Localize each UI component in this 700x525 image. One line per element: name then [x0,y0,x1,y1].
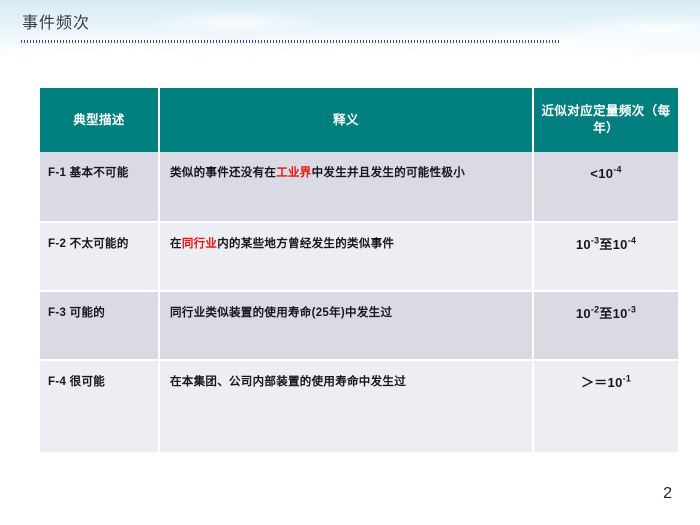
frequency-base: ＞＝10 [581,375,623,390]
frequency-exponent: -4 [613,165,621,175]
frequency-exponent: -1 [623,374,631,384]
explanation-text-post: 中发生并且发生的可能性极小 [312,167,465,179]
cell-description-f4: F-4 很可能 [40,360,159,452]
cell-frequency-f4: ＞＝10-1 [533,360,678,452]
title-underline-divider [21,40,561,43]
table-header-typical-description: 典型描述 [40,88,159,152]
frequency-base: <10 [590,166,613,181]
table-row: F-2 不太可能的 在同行业内的某些地方曾经发生的类似事件 10-3至10-4 [40,222,678,291]
cell-explanation-f3: 同行业类似装置的使用寿命(25年)中发生过 [159,291,533,360]
frequency-exponent-2: -4 [628,236,636,246]
table-header-definition: 释义 [159,88,533,152]
cell-description-f1: F-1 基本不可能 [40,152,159,222]
explanation-text-pre: 同行业类似装置的使用寿命(25年)中发生过 [170,307,392,319]
cell-description-f3: F-3 可能的 [40,291,159,360]
explanation-text-pre: 类似的事件还没有在 [170,167,276,179]
frequency-base: 10 [576,306,591,321]
cell-explanation-f2: 在同行业内的某些地方曾经发生的类似事件 [159,222,533,291]
explanation-text-pre: 在本集团、公司内部装置的使用寿命中发生过 [170,376,406,388]
cell-frequency-f1: <10-4 [533,152,678,222]
explanation-highlight: 工业界 [276,167,311,179]
sky-fade-overlay [0,55,700,75]
table-header-row: 典型描述 释义 近似对应定量频次（每年） [40,88,678,152]
cell-frequency-f2: 10-3至10-4 [533,222,678,291]
frequency-mid: 至10 [599,237,627,252]
cell-description-f2: F-2 不太可能的 [40,222,159,291]
sky-background-banner [0,0,700,60]
event-frequency-table: 典型描述 释义 近似对应定量频次（每年） F-1 基本不可能 类似的事件还没有在… [40,88,678,452]
table-row: F-4 很可能 在本集团、公司内部装置的使用寿命中发生过 ＞＝10-1 [40,360,678,452]
table-row: F-1 基本不可能 类似的事件还没有在工业界中发生并且发生的可能性极小 <10-… [40,152,678,222]
page-number: 2 [663,485,672,503]
table-header-quantitative-frequency: 近似对应定量频次（每年） [533,88,678,152]
cell-explanation-f1: 类似的事件还没有在工业界中发生并且发生的可能性极小 [159,152,533,222]
table-row: F-3 可能的 同行业类似装置的使用寿命(25年)中发生过 10-2至10-3 [40,291,678,360]
cell-explanation-f4: 在本集团、公司内部装置的使用寿命中发生过 [159,360,533,452]
frequency-base: 10 [576,237,591,252]
explanation-text-pre: 在 [170,238,182,250]
explanation-highlight: 同行业 [182,238,217,250]
frequency-mid: 至10 [599,306,627,321]
frequency-exponent-2: -3 [628,305,636,315]
page-title: 事件频次 [22,9,90,33]
explanation-text-post: 内的某些地方曾经发生的类似事件 [217,238,394,250]
cell-frequency-f3: 10-2至10-3 [533,291,678,360]
